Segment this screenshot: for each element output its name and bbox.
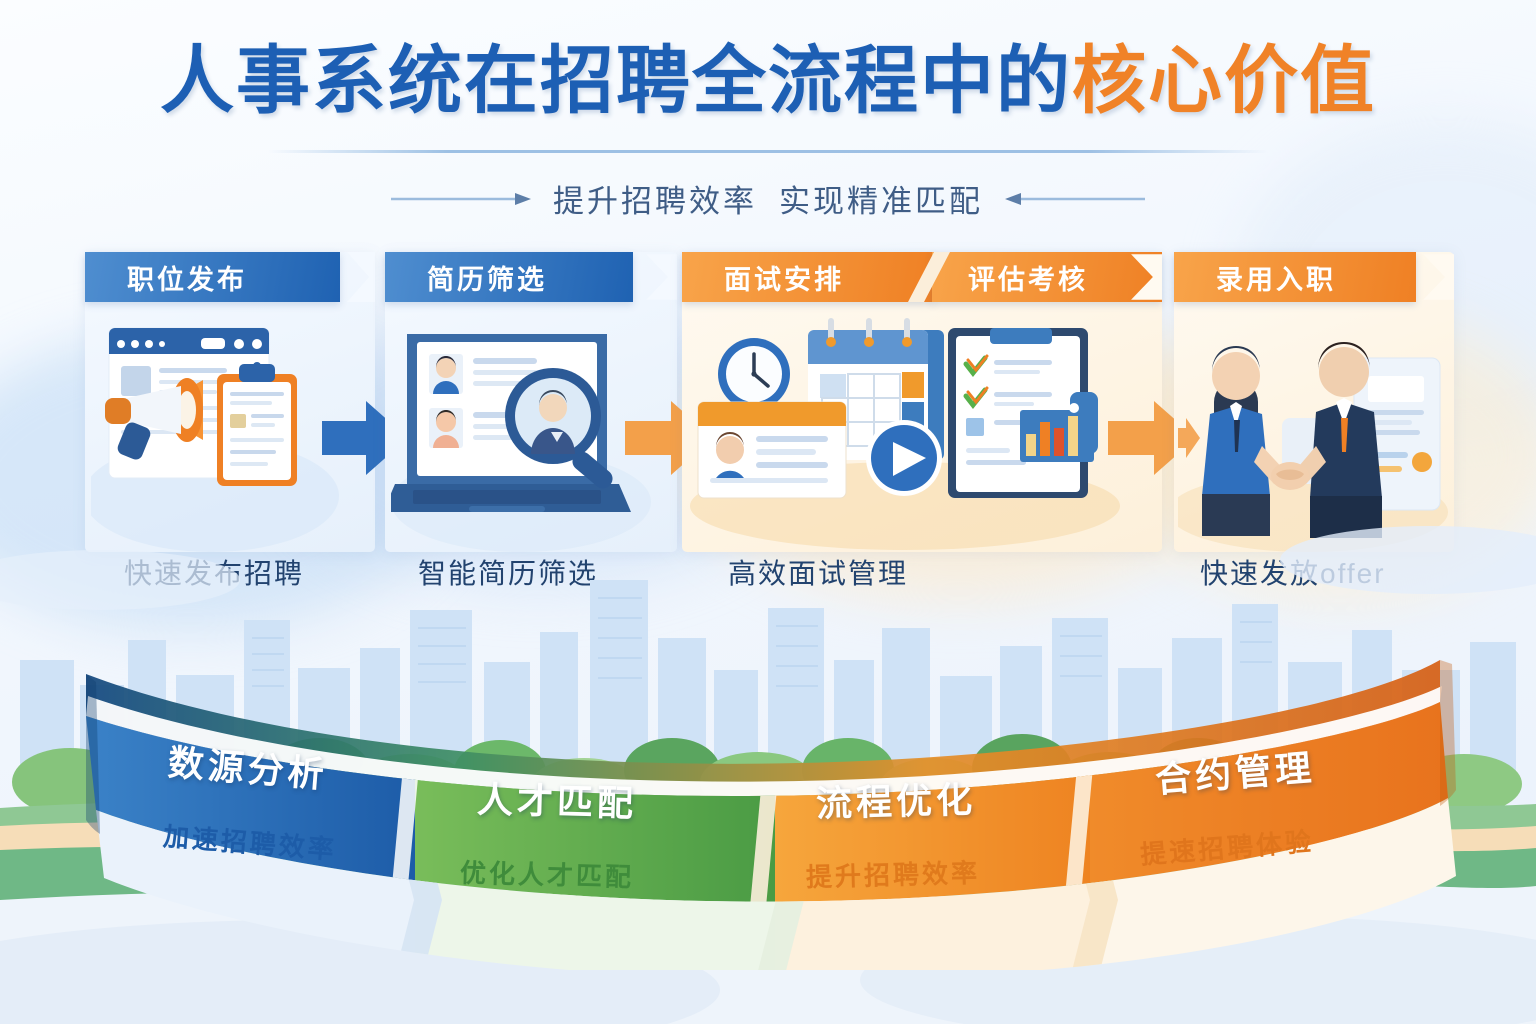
- stage-header-interview: 面试安排: [682, 252, 934, 302]
- chevron-notch-icon: [1122, 252, 1162, 302]
- banner-label-process-optimization: 流程优化: [815, 771, 976, 827]
- stage-interview-evaluation[interactable]: 面试安排 评估考核: [682, 252, 1162, 552]
- title-blue-text: 人事系统在招聘全流程中的: [160, 39, 1072, 122]
- arrow-left-icon: [1005, 189, 1145, 209]
- candidate-avatar-icon: [429, 408, 463, 448]
- candidate-avatar-icon: [429, 354, 463, 394]
- subtitle-row: 提升招聘效率实现精准匹配: [0, 176, 1536, 221]
- chevron-notch-icon: [335, 252, 375, 302]
- ribbon-divider-icon: [904, 252, 950, 302]
- checklist-clipboard-icon: [948, 328, 1098, 498]
- banner-label-talent-matching: 人才匹配: [476, 771, 637, 827]
- stage-header-hiring: 录用入职: [1174, 252, 1416, 302]
- title-orange-text: 核心价值: [1072, 39, 1376, 122]
- stage-header-label: 面试安排: [724, 258, 844, 297]
- subtitle-left: 提升招聘效率: [553, 184, 757, 219]
- clock-icon: [718, 338, 790, 410]
- stage-header-resume-screening: 简历筛选: [385, 252, 633, 302]
- stage-header-job-posting: 职位发布: [85, 252, 340, 302]
- subtitle-right: 实现精准匹配: [779, 184, 983, 219]
- stage-header-label: 职位发布: [127, 258, 247, 297]
- chevron-notch-icon: [637, 252, 677, 302]
- banner-sublabel-process-optimization: 提升招聘效率: [806, 853, 981, 895]
- stage-hiring-onboarding[interactable]: 录用入职: [1174, 252, 1454, 552]
- chevron-notch-icon: [1414, 252, 1454, 302]
- clipboard-icon: [217, 362, 297, 486]
- bottom-ribbon-banner: 数源分析 人才匹配 流程优化 合约管理 加速招聘效率 优化人才匹配 提升招聘效率…: [0, 610, 1536, 970]
- profile-card-icon: [698, 402, 846, 498]
- stage-header-label: 评估考核: [968, 258, 1088, 297]
- banner-sublabel-talent-matching: 优化人才匹配: [460, 853, 635, 895]
- page-title: 人事系统在招聘全流程中的核心价值: [0, 44, 1536, 118]
- play-button-icon: [866, 420, 942, 496]
- stage-5-illustration: [1178, 306, 1450, 552]
- arrow-right-icon: [391, 189, 531, 209]
- infographic-canvas: 人事系统在招聘全流程中的核心价值 提升招聘效率实现精准匹配: [0, 0, 1536, 1024]
- title-divider: [268, 150, 1268, 153]
- stage-header-label: 录用入职: [1216, 258, 1336, 297]
- stage-3-4-illustration: [690, 306, 1154, 552]
- stage-header-label: 简历筛选: [427, 258, 547, 297]
